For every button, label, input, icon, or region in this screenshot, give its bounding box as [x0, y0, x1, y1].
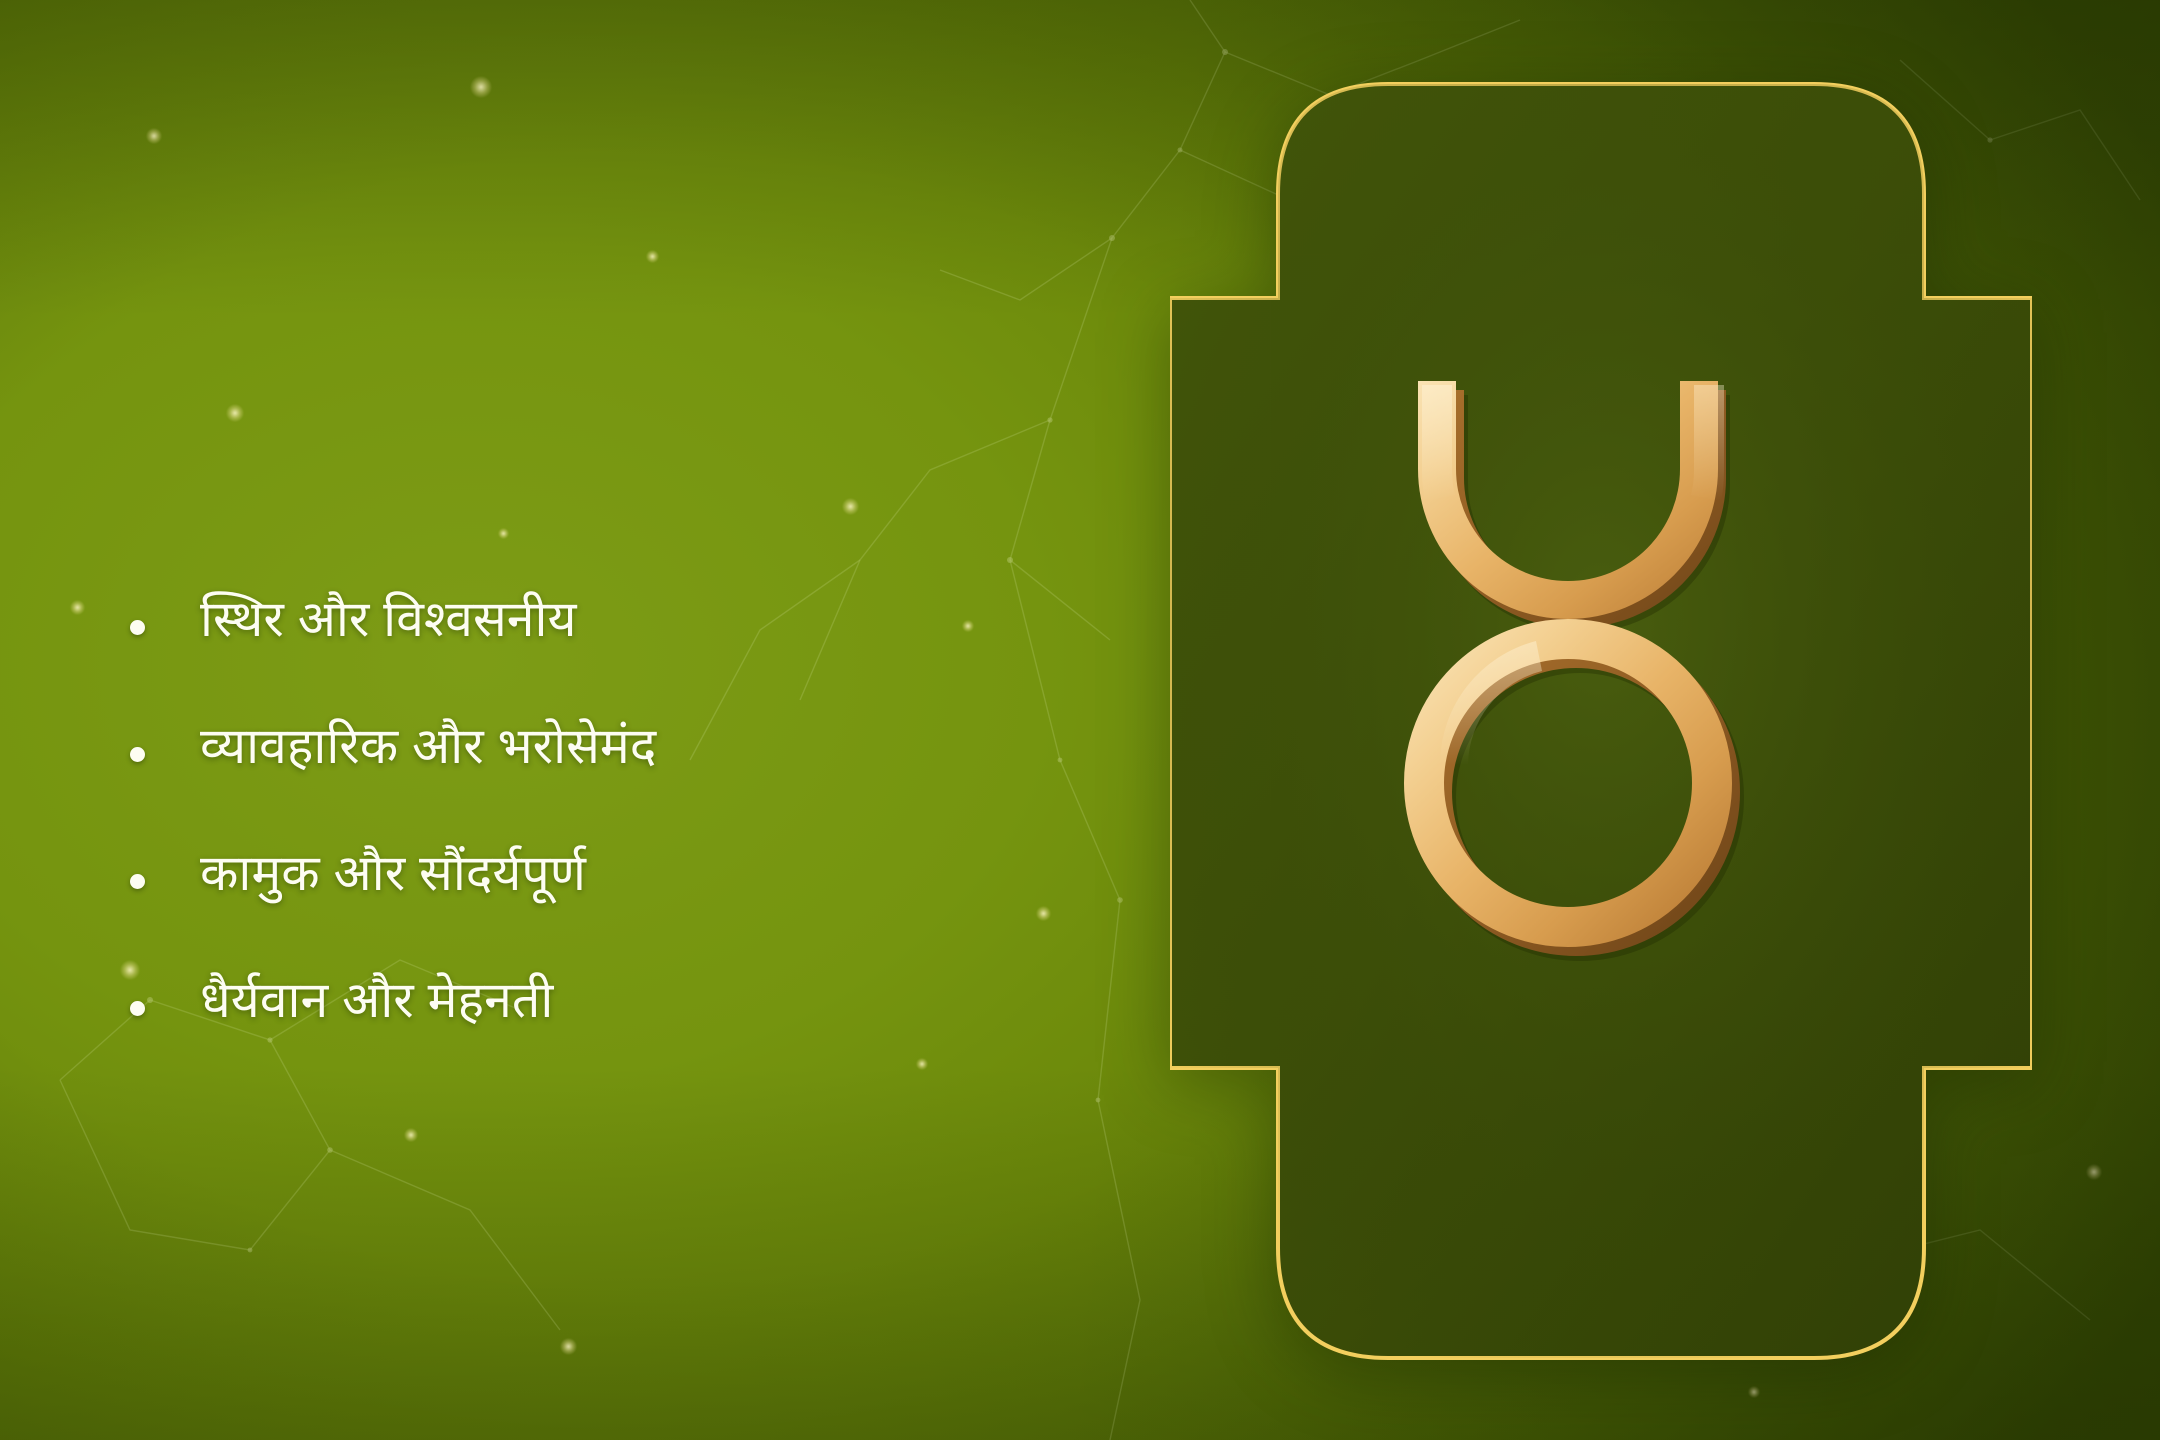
taurus-highlight — [1422, 385, 1455, 501]
traits-list: स्थिर और विश्वसनीय व्यावहारिक और भरोसेमं… — [118, 592, 1058, 1028]
taurus-zodiac-symbol-icon — [1366, 363, 1836, 973]
list-item-label: धैर्यवान और मेहनती — [200, 972, 553, 1028]
list-item-label: स्थिर और विश्वसनीय — [200, 591, 576, 647]
list-item: धैर्यवान और मेहनती — [118, 973, 1058, 1028]
taurus-highlight — [1691, 385, 1724, 501]
infographic-canvas: वृषभ राशि के लोगों की विशेषताएँ क्या हैं… — [0, 0, 2160, 1440]
list-item: व्यावहारिक और भरोसेमंद — [118, 719, 1058, 774]
bullet-dot-icon — [130, 1001, 145, 1016]
list-item: स्थिर और विश्वसनीय — [118, 592, 1058, 647]
bullet-dot-icon — [130, 874, 145, 889]
list-item: कामुक और सौंदर्यपूर्ण — [118, 846, 1058, 901]
list-item-label: कामुक और सौंदर्यपूर्ण — [200, 845, 586, 901]
list-item-label: व्यावहारिक और भरोसेमंद — [200, 718, 656, 774]
bullet-dot-icon — [130, 747, 145, 762]
bullet-dot-icon — [130, 620, 145, 635]
zodiac-card — [1170, 62, 2032, 1380]
taurus-ring — [1424, 639, 1712, 927]
